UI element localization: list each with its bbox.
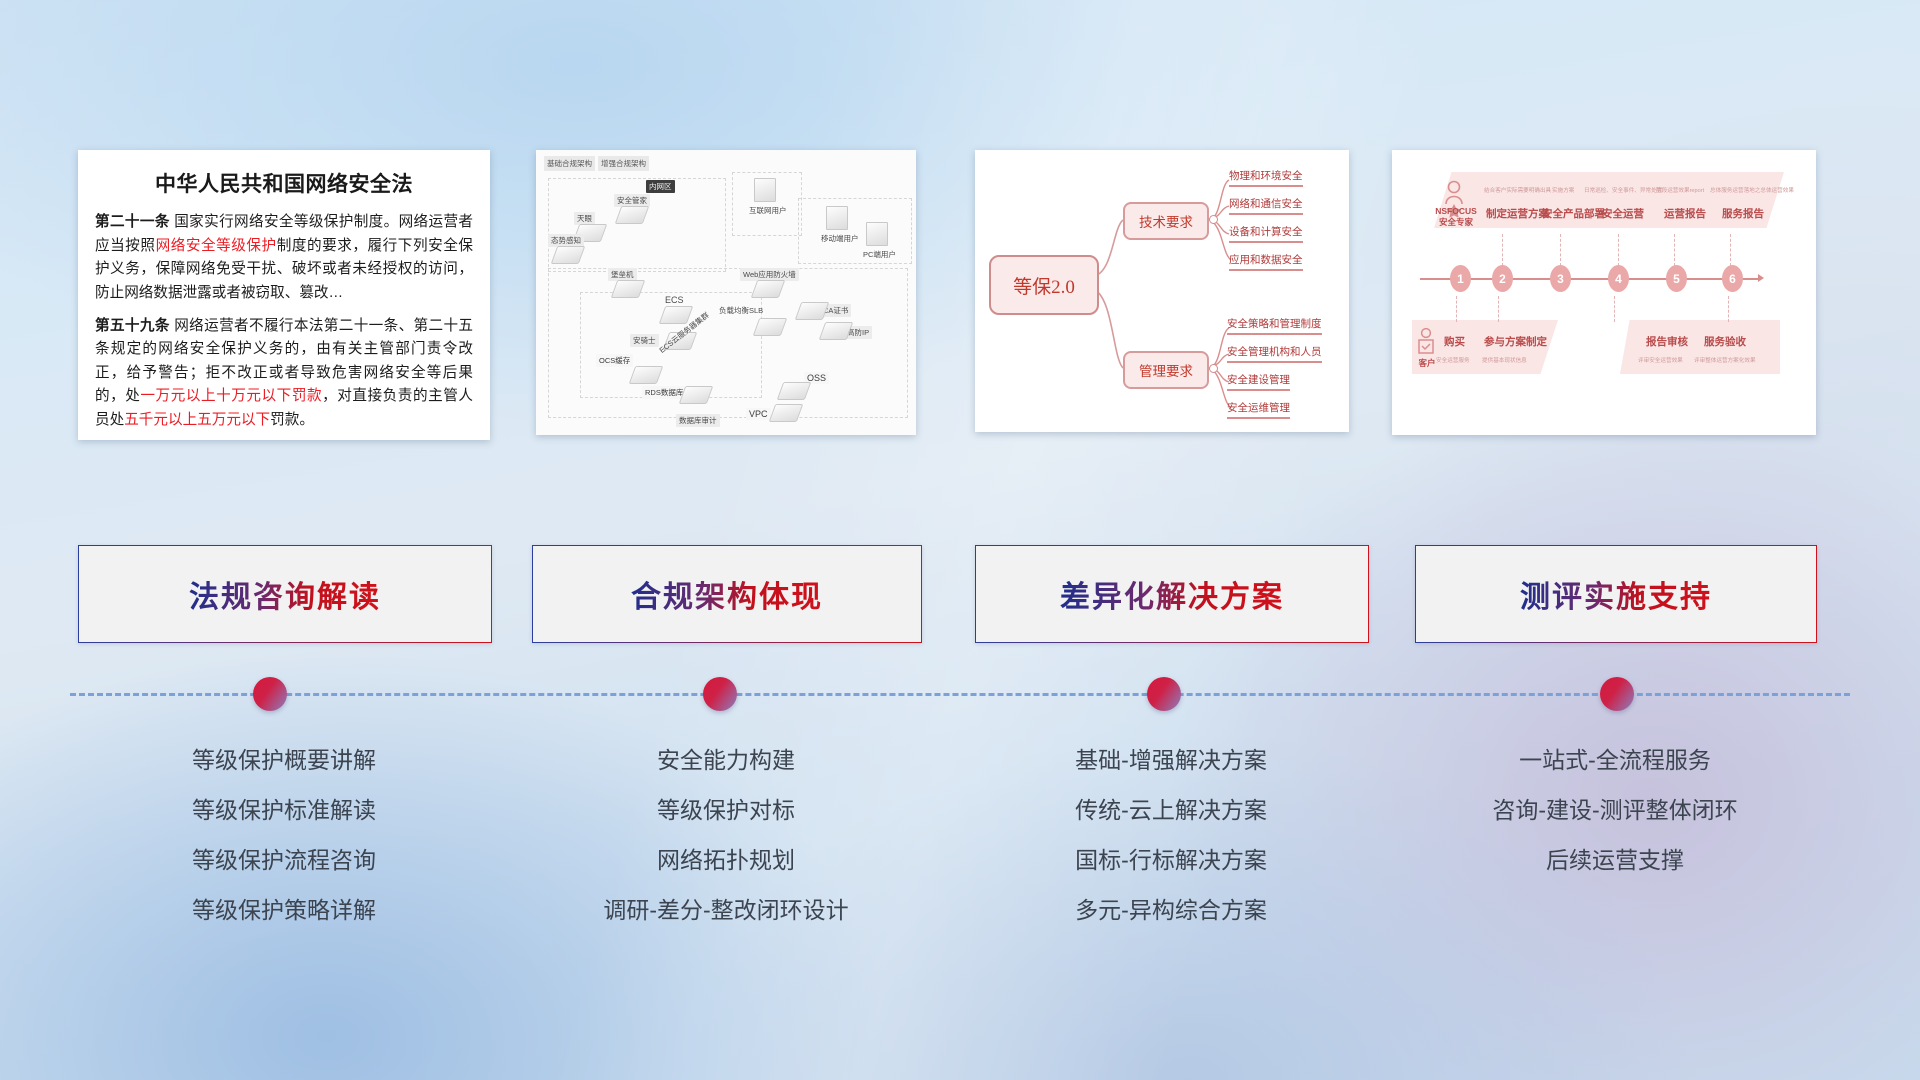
node-box [777,382,812,400]
node-mobile-users: 移动端用户 [826,206,848,230]
bottom-sub: 安全运营服务 [1436,356,1470,364]
bottom-head: 购买 [1444,334,1465,349]
list-item: 等级保护对标 [532,785,920,835]
node-label: 内网区 [646,180,675,193]
law-title: 中华人民共和国网络安全法 [95,168,473,198]
list-item: 一站式-全流程服务 [1415,735,1815,785]
node-box [769,404,804,422]
article-59-highlight-2: 五千元以上五万元以下 [124,412,270,428]
node-label: 数据库审计 [676,414,720,427]
mindmap-branch-management: 管理要求 [1123,351,1209,389]
expert-label: NSFOCUS 安全专家 [1428,206,1484,227]
banner-label: 差异化解决方案 [1060,572,1284,616]
node-box [826,206,848,230]
node-vpc: VPC [772,404,800,422]
timeline-dot-3[interactable] [1147,677,1181,711]
timeline-axis [1420,278,1760,280]
mindmap-root: 等保2.0 [989,255,1099,315]
list-column-4: 一站式-全流程服务 咨询-建设-测评整体闭环 后续运营支撑 [1415,735,1815,885]
list-item: 等级保护概要讲解 [78,735,490,785]
collapse-dot-icon[interactable] [1209,364,1218,373]
list-item: 基础-增强解决方案 [975,735,1367,785]
dash-connector [1728,296,1730,322]
top-sub: 结合客户实际需要明确出具 [1484,186,1551,194]
node-box [753,318,788,336]
expert-label-line2: 安全专家 [1428,217,1484,228]
step-marker[interactable]: 5 [1666,265,1687,292]
list-item: 传统-云上解决方案 [975,785,1367,835]
node-label: RDS数据库 [642,386,686,399]
mindmap-diagram: 等保2.0 技术要求 物理和环境安全 网络和通信安全 设备和计算安全 应用和数据… [975,150,1349,432]
bottom-head: 参与方案制定 [1484,334,1547,349]
mindmap-leaf: 物理和环境安全 [1229,168,1303,187]
node-box [751,280,786,298]
expert-label-line1: NSFOCUS [1428,206,1484,217]
node-ecs: ECS [662,306,690,324]
dash-connector [1560,234,1562,266]
bottom-head: 服务验收 [1704,334,1746,349]
timeline-dot-1[interactable] [253,677,287,711]
list-item: 国标-行标解决方案 [975,835,1367,885]
article-21-label: 第二十一条 [95,214,170,230]
image-card-row: 中华人民共和国网络安全法 第二十一条 国家实行网络安全等级保护制度。网络运营者应… [0,150,1920,440]
node-box [611,280,646,298]
architecture-tabs: 基础合规架构 增强合规架构 [544,156,649,171]
step-marker[interactable]: 2 [1492,265,1513,292]
bottom-sub: 评审整体运营方案化效果 [1694,356,1756,364]
banner-compliance-architecture[interactable]: 合规架构体现 [532,545,922,643]
article-21-highlight: 网络安全等级保护 [156,238,277,254]
list-column-3: 基础-增强解决方案 传统-云上解决方案 国标-行标解决方案 多元-异构综合方案 [975,735,1367,935]
dash-connector [1618,234,1620,266]
dash-connector [1456,296,1458,322]
law-text-block: 中华人民共和国网络安全法 第二十一条 国家实行网络安全等级保护制度。网络运营者应… [78,150,490,440]
node-box [795,302,830,320]
node-anti-ddos-ip: 高防IP [822,322,850,340]
banner-label: 法规咨询解读 [189,572,381,616]
tab-basic-architecture[interactable]: 基础合规架构 [544,156,595,171]
mindmap-leaf: 设备和计算安全 [1229,224,1303,243]
card-nsfocus-timeline[interactable]: NSFOCUS 安全专家 结合客户实际需要明确出具 制定运营方案 实施方案 安全… [1392,150,1816,435]
article-59-highlight-1: 一万元以上十万元以下罚款 [140,388,322,404]
list-item: 咨询-建设-测评整体闭环 [1415,785,1815,835]
node-label: 负载均衡SLB [716,304,766,317]
node-slb: 负载均衡SLB [756,318,784,336]
list-item: 多元-异构综合方案 [975,885,1367,935]
top-sub: 日常巡检、安全事件、异常处置 [1584,186,1662,194]
dash-connector [1498,296,1500,322]
list-item: 等级保护策略详解 [78,885,490,935]
list-item: 安全能力构建 [532,735,920,785]
top-head: 安全产品部署 [1542,206,1605,221]
node-box [551,246,586,264]
bottom-sub: 评审安全运营效果 [1638,356,1683,364]
node-security-manager: 安全管家 [618,206,646,224]
top-sub: 阶段运营效果report [1656,186,1704,194]
bottom-sub: 提供基本现状信息 [1482,356,1527,364]
banner-label: 合规架构体现 [631,572,823,616]
node-rds-database: RDS数据库 [682,386,710,404]
bottom-head: 报告审核 [1646,334,1688,349]
node-label: 安骑士 [630,334,659,347]
node-box [754,178,776,202]
mindmap-leaf: 安全建设管理 [1227,372,1290,391]
list-column-1: 等级保护概要讲解 等级保护标准解读 等级保护流程咨询 等级保护策略详解 [78,735,490,935]
list-item: 等级保护标准解读 [78,785,490,835]
list-item: 后续运营支撑 [1415,835,1815,885]
banner-assessment-support[interactable]: 测评实施支持 [1415,545,1817,643]
node-label: 移动端用户 [818,232,862,245]
banner-differentiated-solution[interactable]: 差异化解决方案 [975,545,1369,643]
dash-connector [1674,234,1676,266]
list-item: 调研-差分-整改闭环设计 [532,885,920,935]
mindmap-leaf: 应用和数据安全 [1229,252,1303,271]
bottom-right-band [1620,320,1780,374]
law-article-21: 第二十一条 国家实行网络安全等级保护制度。网络运营者应当按照网络安全等级保护制度… [95,211,473,306]
card-cybersecurity-law[interactable]: 中华人民共和国网络安全法 第二十一条 国家实行网络安全等级保护制度。网络运营者应… [78,150,490,440]
top-head: 制定运营方案 [1486,206,1549,221]
mindmap-leaf: 安全管理机构和人员 [1227,344,1322,363]
step-marker[interactable]: 3 [1550,265,1571,292]
node-situation-awareness: 态势感知 [554,246,582,264]
top-head: 安全运营 [1602,206,1644,221]
card-cloud-architecture[interactable]: 基础合规架构 增强合规架构 内网区 安全管家 天眼 态势感知 [536,150,916,435]
node-pc-users: PC端用户 [866,222,888,246]
top-sub: 总体服务运营落地之总体运营效果 [1710,186,1794,194]
node-label: PC端用户 [860,248,899,261]
timeline-dot-4[interactable] [1600,677,1634,711]
node-oss: OSS [780,382,808,400]
list-item: 等级保护流程咨询 [78,835,490,885]
node-box [629,366,664,384]
mindmap-leaf: 安全运维管理 [1227,400,1290,419]
banner-label: 测评实施支持 [1520,572,1712,616]
architecture-diagram: 基础合规架构 增强合规架构 内网区 安全管家 天眼 态势感知 [536,150,916,435]
step-marker[interactable]: 6 [1722,265,1743,292]
node-label: VPC [746,408,771,420]
timeline-arrow-icon [1758,274,1764,282]
node-label: 互联网用户 [746,204,790,217]
card-mindmap-dengbao[interactable]: 等保2.0 技术要求 物理和环境安全 网络和通信安全 设备和计算安全 应用和数据… [975,150,1349,432]
list-item: 网络拓扑规划 [532,835,920,885]
node-label: ECS [662,294,687,306]
law-article-59: 第五十九条 网络运营者不履行本法第二十一条、第二十五条规定的网络安全保护义务的，… [95,315,473,433]
top-head: 运营报告 [1664,206,1706,221]
dash-connector [1730,234,1732,266]
node-label: OCS缓存 [596,354,633,367]
collapse-dot-icon[interactable] [1209,215,1218,224]
node-box [679,386,714,404]
dash-connector [1502,234,1504,266]
node-ocs-cache: OCS缓存 [632,366,660,384]
dashed-timeline [70,693,1850,699]
top-head: 服务报告 [1722,206,1764,221]
node-waf: Web应用防火墙 [754,280,782,298]
dash-connector [1614,296,1616,322]
mindmap-leaf: 安全策略和管理制度 [1227,316,1322,335]
timeline-dot-2[interactable] [703,677,737,711]
article-59-text-c: 罚款。 [270,412,314,428]
step-marker[interactable]: 1 [1450,265,1471,292]
node-bastion-host: 堡垒机 [614,280,642,298]
customer-person-icon [1416,326,1436,362]
mindmap-branch-technical: 技术要求 [1123,202,1209,240]
node-internet-users: 互联网用户 [754,178,776,202]
step-marker[interactable]: 4 [1608,265,1629,292]
node-box [866,222,888,246]
tab-enhanced-architecture[interactable]: 增强合规架构 [598,156,649,171]
node-ca-certificate: CA证书 [798,302,826,320]
top-sub: 实施方案 [1552,186,1574,194]
nsfocus-diagram: NSFOCUS 安全专家 结合客户实际需要明确出具 制定运营方案 实施方案 安全… [1392,150,1816,435]
mindmap-leaf: 网络和通信安全 [1229,196,1303,215]
banner-regulation-consulting[interactable]: 法规咨询解读 [78,545,492,643]
article-59-label: 第五十九条 [95,318,170,334]
list-column-2: 安全能力构建 等级保护对标 网络拓扑规划 调研-差分-整改闭环设计 [532,735,920,935]
banner-row: 法规咨询解读 合规架构体现 差异化解决方案 测评实施支持 [0,545,1920,645]
node-box [615,206,650,224]
